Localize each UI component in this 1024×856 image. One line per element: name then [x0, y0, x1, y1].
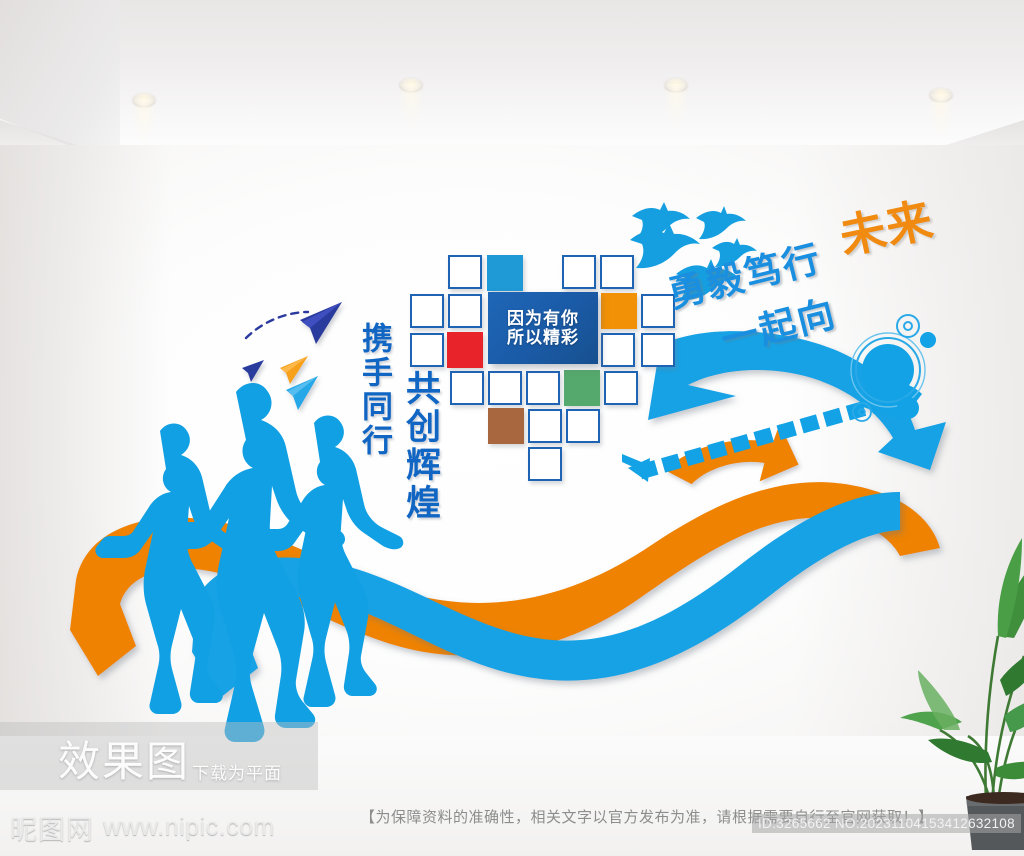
mosaic-tile: [450, 371, 484, 405]
mosaic-tile: [488, 371, 522, 405]
screenshot-root: 因为有你 所以精彩 携手同行 共创辉煌 勇毅笃行 一起向 未来: [0, 0, 1024, 856]
mosaic-tile: [448, 294, 482, 328]
mosaic-tile: [526, 371, 560, 405]
mosaic-tile: [487, 255, 523, 291]
center-message-panel: 因为有你 所以精彩: [488, 292, 598, 364]
plant-leaves: [900, 538, 1024, 779]
mosaic-tile: [447, 332, 483, 368]
mosaic-tile: [528, 447, 562, 481]
mosaic-tile: [600, 255, 634, 289]
mosaic-tile: [601, 333, 635, 367]
paper-plane-icon: [242, 360, 264, 382]
asset-id-badge: ID:3265662 NO:20231104153412632108: [752, 814, 1021, 833]
paper-plane-icon: [300, 302, 342, 344]
vertical-slogan-1: 携手同行: [352, 322, 397, 458]
panel-line-1: 因为有你: [507, 309, 579, 328]
effect-label-big: 效果图: [58, 728, 190, 789]
mosaic-tile: [528, 409, 562, 443]
mosaic-tile: [566, 409, 600, 443]
mosaic-tile: [448, 255, 482, 289]
potted-plant: [900, 430, 1024, 850]
vertical-slogan-2: 共创辉煌: [395, 370, 446, 522]
site-watermark: 昵图网 www.nipic.com: [10, 808, 275, 847]
effect-label-small: 下载为平面: [192, 759, 282, 784]
site-name-cn: 昵图网: [10, 808, 94, 847]
paper-plane-icon: [280, 356, 308, 384]
mosaic-tile: [604, 371, 638, 405]
mosaic-tile: [641, 333, 675, 367]
panel-line-2: 所以精彩: [507, 328, 579, 347]
effect-watermark: 效果图 下载为平面: [58, 728, 282, 789]
mosaic-tile: [601, 293, 637, 329]
mosaic-tile: [410, 294, 444, 328]
mosaic-tile: [562, 255, 596, 289]
mosaic-tile: [488, 408, 524, 444]
site-url: www.nipic.com: [103, 813, 275, 842]
mosaic-tile: [410, 333, 444, 367]
mosaic-tile: [564, 370, 600, 406]
